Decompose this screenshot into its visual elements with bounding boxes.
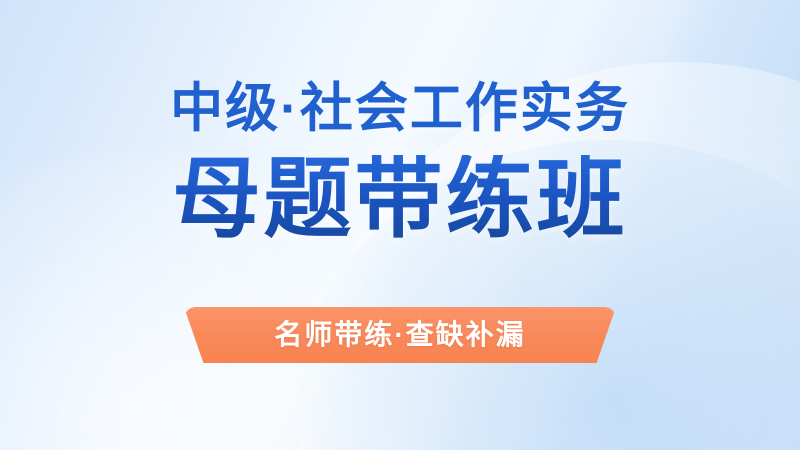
course-promo-poster: 中级·社会工作实务 母题带练班 名师带练·查缺补漏 <box>0 0 800 450</box>
course-tagline-text: 名师带练·查缺补漏 <box>274 321 525 349</box>
course-tagline-ribbon: 名师带练·查缺补漏 <box>184 307 616 363</box>
course-main-title: 母题带练班 <box>172 155 627 243</box>
poster-content: 中级·社会工作实务 母题带练班 名师带练·查缺补漏 <box>0 0 800 450</box>
course-subject-line: 中级·社会工作实务 <box>170 82 630 135</box>
